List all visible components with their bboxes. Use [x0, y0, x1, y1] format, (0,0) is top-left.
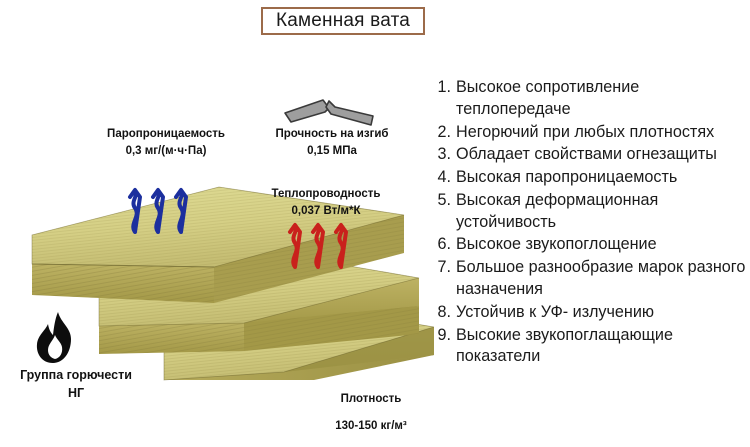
list-item-number: 6.: [432, 234, 456, 256]
wave-arrow-icon: [287, 221, 303, 269]
density-label: Плотность: [306, 391, 436, 408]
vapor-permeability-label: Паропроницаемость 0,3 мг/(м·ч·Па): [76, 126, 256, 159]
wave-arrow-icon: [173, 186, 189, 234]
list-item: 8. Устойчив к УФ- излучению: [432, 302, 750, 324]
list-item-number: 8.: [432, 302, 456, 324]
list-item-text: Устойчив к УФ- излучению: [456, 302, 750, 324]
heat-wave-arrows: [287, 221, 349, 269]
list-item-number: 2.: [432, 122, 456, 144]
list-item-text: Высокие звукопоглащающие показатели: [456, 325, 750, 369]
list-item-number: 9.: [432, 325, 456, 347]
list-item: 1. Высокое сопротивление теплопередаче: [432, 77, 750, 121]
list-item: 6. Высокое звукопоглощение: [432, 234, 750, 256]
flame-icon: [31, 311, 79, 365]
list-item-number: 3.: [432, 144, 456, 166]
page-title-box: Каменная вата: [261, 7, 425, 35]
list-item: 3. Обладает свойствами огнезащиты: [432, 144, 750, 166]
list-item-text: Негорючий при любых плотностях: [456, 122, 750, 144]
wave-arrow-icon: [127, 186, 143, 234]
bending-strength-label: Прочность на изгиб 0,15 МПа: [262, 126, 402, 159]
thermal-conductivity-label: Теплопроводность 0,037 Вт/м*К: [250, 186, 402, 219]
list-item: 4. Высокая паропроницаемость: [432, 167, 750, 189]
flammability-group-name: Группа горючести: [20, 368, 132, 382]
list-item-number: 4.: [432, 167, 456, 189]
list-item-text: Большое разнообразие марок разного назна…: [456, 257, 750, 301]
list-item-number: 5.: [432, 190, 456, 212]
flammability-group-label: Группа горючести НГ: [2, 366, 150, 402]
vapor-wave-arrows: [127, 186, 189, 234]
vapor-permeability-value: 0,3 мг/(м·ч·Па): [76, 143, 256, 160]
bending-bars-icon: [283, 92, 375, 128]
list-item: 2. Негорючий при любых плотностях: [432, 122, 750, 144]
flammability-group-value: НГ: [2, 384, 150, 402]
density-value: 130-150 кг/м³: [335, 420, 406, 432]
list-item: 7. Большое разнообразие марок разного на…: [432, 257, 750, 301]
list-item-text: Высокая паропроницаемость: [456, 167, 750, 189]
vapor-permeability-name: Паропроницаемость: [107, 128, 225, 140]
benefits-list: 1. Высокое сопротивление теплопередаче 2…: [432, 77, 750, 369]
thermal-conductivity-value: 0,037 Вт/м*К: [250, 203, 402, 220]
list-item: 9. Высокие звукопоглащающие показатели: [432, 325, 750, 369]
wave-arrow-icon: [310, 221, 326, 269]
thermal-conductivity-name: Теплопроводность: [272, 188, 381, 200]
list-item-text: Высокое звукопоглощение: [456, 234, 750, 256]
density-value-label: 130-150 кг/м³: [306, 418, 436, 435]
bending-strength-value: 0,15 МПа: [262, 143, 402, 160]
wave-arrow-icon: [150, 186, 166, 234]
list-item-text: Высокая деформационная устойчивость: [456, 190, 750, 234]
list-item-text: Высокое сопротивление теплопередаче: [456, 77, 750, 121]
list-item-number: 7.: [432, 257, 456, 279]
infographic-canvas: Каменная вата: [0, 0, 750, 447]
page-title: Каменная вата: [276, 10, 410, 32]
density-name: Плотность: [341, 393, 402, 405]
list-item-number: 1.: [432, 77, 456, 99]
list-item-text: Обладает свойствами огнезащиты: [456, 144, 750, 166]
wave-arrow-icon: [333, 221, 349, 269]
list-item: 5. Высокая деформационная устойчивость: [432, 190, 750, 234]
bending-strength-name: Прочность на изгиб: [275, 128, 388, 140]
